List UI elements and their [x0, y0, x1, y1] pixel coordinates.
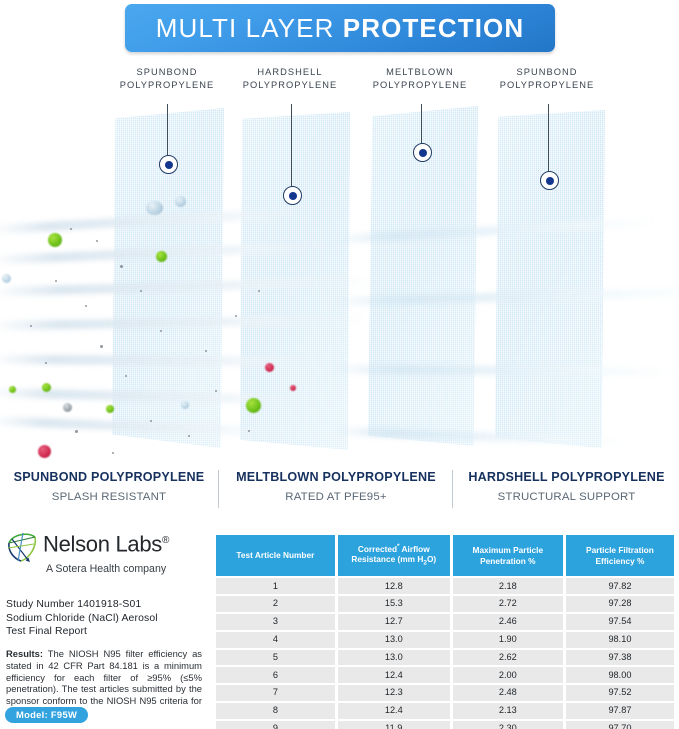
- cell-test-article-number: 9: [216, 721, 335, 729]
- airflow-streak: [330, 217, 660, 244]
- mask-layers-illustration: [0, 100, 679, 460]
- table-row: 612.42.0098.00: [216, 667, 674, 683]
- callout-label-4-line1: SPUNBOND: [472, 66, 622, 79]
- brand-name-text: Nelson Labs: [43, 531, 162, 556]
- table-row: 513.02.6297.38: [216, 650, 674, 666]
- feature-2-title: MELTBLOWN POLYPROPYLENE: [220, 468, 452, 486]
- particle-green: [48, 233, 62, 247]
- callout-label-2-line2: POLYPROPYLENE: [215, 79, 365, 92]
- callout-label-4-line2: POLYPROPYLENE: [472, 79, 622, 92]
- feature-2-subtitle: RATED AT PFE95+: [220, 488, 452, 506]
- study-aerosol: Sodium Chloride (NaCl) Aerosol: [6, 612, 206, 626]
- table-header-text: Particle FiltrationEfficiency %: [586, 545, 654, 566]
- callout-dot-icon-1: [159, 155, 178, 174]
- cell-particle-penetration: 2.18: [453, 578, 563, 594]
- particle-speck: [205, 350, 207, 352]
- particle-speck: [30, 325, 32, 327]
- feature-1-title: SPUNBOND POLYPROPYLENE: [0, 468, 218, 486]
- callout-leader-line-1: [167, 104, 168, 156]
- particle-speck: [188, 435, 190, 437]
- table-row: 312.72.4697.54: [216, 614, 674, 630]
- cell-particle-penetration: 2.48: [453, 685, 563, 701]
- cell-test-article-number: 7: [216, 685, 335, 701]
- feature-3-subtitle: STRUCTURAL SUPPORT: [454, 488, 679, 506]
- cell-test-article-number: 1: [216, 578, 335, 594]
- airflow-streak: [330, 365, 679, 376]
- cell-airflow-resistance: 13.0: [338, 632, 450, 648]
- cell-test-article-number: 3: [216, 614, 335, 630]
- particle-green: [156, 251, 167, 262]
- table-row: 112.82.1897.82: [216, 578, 674, 594]
- particle-speck: [45, 362, 47, 364]
- table-row: 911.92.3097.70: [216, 721, 674, 729]
- cell-particle-penetration: 2.72: [453, 596, 563, 612]
- particle-pink: [265, 363, 274, 372]
- feature-1: SPUNBOND POLYPROPYLENE SPLASH RESISTANT: [0, 468, 218, 506]
- particle-green: [9, 386, 16, 393]
- cell-test-article-number: 5: [216, 650, 335, 666]
- particle-speck: [55, 280, 57, 282]
- cell-test-article-number: 2: [216, 596, 335, 612]
- table-body: 112.82.1897.82215.32.7297.28312.72.4697.…: [216, 578, 674, 729]
- feature-1-subtitle: SPLASH RESISTANT: [0, 488, 218, 506]
- cell-particle-penetration: 2.62: [453, 650, 563, 666]
- particle-gray: [63, 403, 72, 412]
- particle-droplet: [2, 274, 11, 283]
- cell-airflow-resistance: 11.9: [338, 721, 450, 729]
- callout-leader-line-4: [548, 104, 549, 172]
- table-row: 215.32.7297.28: [216, 596, 674, 612]
- particle-droplet: [146, 201, 163, 215]
- particle-droplet: [181, 401, 189, 409]
- callout-label-2: HARDSHELL POLYPROPYLENE: [215, 66, 365, 92]
- particle-speck: [75, 430, 78, 433]
- cell-filtration-efficiency: 97.87: [566, 703, 674, 719]
- study-report-type: Test Final Report: [6, 625, 206, 639]
- particle-speck: [140, 290, 142, 292]
- cell-airflow-resistance: 12.7: [338, 614, 450, 630]
- study-info: Study Number 1401918-S01 Sodium Chloride…: [6, 598, 206, 639]
- airflow-streak: [0, 315, 370, 331]
- cell-filtration-efficiency: 97.38: [566, 650, 674, 666]
- callout-dot-icon-4: [540, 171, 559, 190]
- table-row: 712.32.4897.52: [216, 685, 674, 701]
- particle-speck: [100, 345, 103, 348]
- callout-leader-line-2: [291, 104, 292, 187]
- cell-airflow-resistance: 12.4: [338, 703, 450, 719]
- cell-particle-penetration: 1.90: [453, 632, 563, 648]
- particle-speck: [112, 452, 114, 454]
- cell-filtration-efficiency: 97.28: [566, 596, 674, 612]
- airflow-streak: [0, 355, 340, 366]
- particle-speck: [150, 420, 152, 422]
- callout-leader-line-3: [421, 104, 422, 144]
- cell-particle-penetration: 2.13: [453, 703, 563, 719]
- particle-green: [246, 398, 261, 413]
- model-badge: Model: F95W: [5, 707, 88, 723]
- feature-divider: [218, 470, 219, 508]
- cell-airflow-resistance: 12.3: [338, 685, 450, 701]
- nelson-labs-brand: Nelson Labs® A Sotera Health company: [6, 528, 211, 576]
- particle-pink: [290, 385, 296, 391]
- particle-speck: [125, 375, 127, 377]
- cell-airflow-resistance: 13.0: [338, 650, 450, 666]
- particle-speck: [215, 390, 217, 392]
- results-label: Results:: [6, 648, 43, 659]
- particle-droplet: [175, 196, 186, 207]
- particle-speck: [160, 330, 162, 332]
- callout-dot-icon-2: [283, 186, 302, 205]
- table-row: 413.01.9098.10: [216, 632, 674, 648]
- particle-pink: [38, 445, 51, 458]
- cell-particle-penetration: 2.30: [453, 721, 563, 729]
- banner-title: MULTI LAYER PROTECTION: [156, 15, 525, 41]
- cell-particle-penetration: 2.46: [453, 614, 563, 630]
- table-header-text: Maximum ParticlePenetration %: [473, 545, 544, 566]
- feature-2: MELTBLOWN POLYPROPYLENE RATED AT PFE95+: [220, 468, 452, 506]
- particle-speck: [96, 240, 98, 242]
- airflow-streak: [330, 287, 679, 307]
- table-header-particle-filtration-efficiency: Particle FiltrationEfficiency %: [566, 535, 674, 576]
- table-header-text: Corrected* AirflowResistance (mm H2O): [351, 542, 436, 569]
- callout-label-4: SPUNBOND POLYPROPYLENE: [472, 66, 622, 92]
- cell-filtration-efficiency: 97.70: [566, 721, 674, 729]
- airflow-streak: [0, 416, 290, 437]
- cell-test-article-number: 8: [216, 703, 335, 719]
- banner-title-light: MULTI LAYER: [156, 13, 335, 43]
- brand-name: Nelson Labs®: [43, 528, 169, 557]
- table-header-test-article-number: Test Article Number: [216, 535, 335, 576]
- airflow-streak: [0, 277, 380, 297]
- feature-headings: SPUNBOND POLYPROPYLENE SPLASH RESISTANT …: [0, 468, 679, 516]
- table-header-text: Test Article Number: [236, 550, 314, 561]
- banner-container: MULTI LAYER PROTECTION: [0, 4, 679, 56]
- airflow-spray-right: [330, 220, 630, 420]
- asterisk-icon: *: [397, 543, 400, 550]
- particle-speck: [70, 228, 72, 230]
- cell-airflow-resistance: 12.4: [338, 667, 450, 683]
- particle-speck: [235, 315, 237, 317]
- particle-speck: [258, 290, 260, 292]
- feature-3: HARDSHELL POLYPROPYLENE STRUCTURAL SUPPO…: [454, 468, 679, 506]
- particle-speck: [85, 305, 87, 307]
- product-infographic: MULTI LAYER PROTECTION SPUNBOND POLYPROP…: [0, 0, 679, 729]
- particle-green: [42, 383, 51, 392]
- table-header-maximum-particle-penetration: Maximum ParticlePenetration %: [453, 535, 563, 576]
- particle-speck: [120, 265, 123, 268]
- cell-filtration-efficiency: 97.82: [566, 578, 674, 594]
- test-results-table: Test Article Number Corrected* AirflowRe…: [216, 535, 674, 729]
- particle-green: [106, 405, 114, 413]
- nelson-labs-logo-icon: [6, 530, 40, 564]
- cell-test-article-number: 6: [216, 667, 335, 683]
- feature-3-title: HARDSHELL POLYPROPYLENE: [454, 468, 679, 486]
- multi-layer-protection-banner: MULTI LAYER PROTECTION: [125, 4, 555, 52]
- table-header-row: Test Article Number Corrected* AirflowRe…: [216, 535, 674, 576]
- callout-dot-icon-3: [413, 143, 432, 162]
- cell-filtration-efficiency: 97.52: [566, 685, 674, 701]
- cell-filtration-efficiency: 98.00: [566, 667, 674, 683]
- cell-filtration-efficiency: 98.10: [566, 632, 674, 648]
- banner-title-bold: PROTECTION: [343, 13, 524, 43]
- callout-label-2-line1: HARDSHELL: [215, 66, 365, 79]
- cell-airflow-resistance: 15.3: [338, 596, 450, 612]
- table-header-airflow-resistance: Corrected* AirflowResistance (mm H2O): [338, 535, 450, 576]
- cell-test-article-number: 4: [216, 632, 335, 648]
- table-row: 812.42.1397.87: [216, 703, 674, 719]
- cell-airflow-resistance: 12.8: [338, 578, 450, 594]
- brand-tagline: A Sotera Health company: [46, 562, 211, 576]
- particle-speck: [248, 430, 250, 432]
- study-number: Study Number 1401918-S01: [6, 598, 206, 612]
- brand-registered-mark: ®: [162, 535, 169, 546]
- feature-divider: [452, 470, 453, 508]
- cell-filtration-efficiency: 97.54: [566, 614, 674, 630]
- cell-particle-penetration: 2.00: [453, 667, 563, 683]
